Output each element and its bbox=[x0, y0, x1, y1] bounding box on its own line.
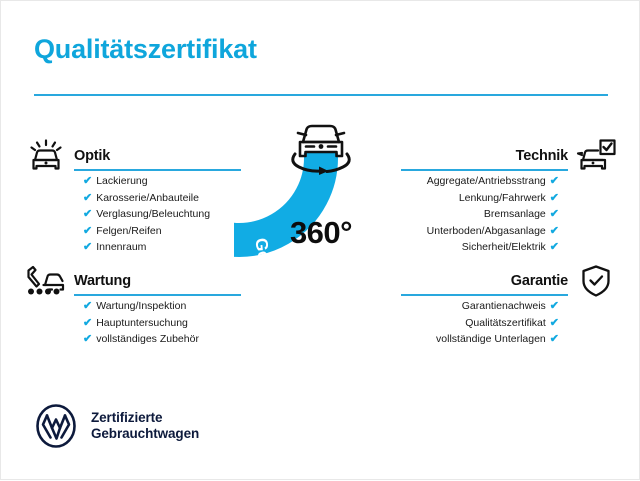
check-icon: ✔ bbox=[550, 315, 559, 332]
list-item-label: vollständiges Zubehör bbox=[96, 333, 199, 345]
check-icon: ✔ bbox=[550, 298, 559, 315]
check-icon: ✔ bbox=[550, 206, 559, 223]
check-icon: ✔ bbox=[83, 206, 92, 223]
section-title-optik: Optik bbox=[74, 148, 110, 164]
list-item-label: Felgen/Reifen bbox=[96, 225, 161, 237]
list-item-label: Innenraum bbox=[96, 241, 146, 253]
certificate-page: Qualitätszertifikat Op bbox=[1, 1, 640, 481]
check-icon: ✔ bbox=[83, 223, 92, 240]
list-item-label: Karosserie/Anbauteile bbox=[96, 192, 199, 204]
list-item: vollständige Unterlagen✔ bbox=[436, 331, 559, 348]
check-icon: ✔ bbox=[550, 173, 559, 190]
list-item-label: Qualitätszertifikat bbox=[465, 317, 546, 329]
check-icon: ✔ bbox=[550, 223, 559, 240]
list-item-label: vollständige Unterlagen bbox=[436, 333, 546, 345]
section-title-wartung: Wartung bbox=[74, 273, 131, 289]
list-item: ✔Felgen/Reifen bbox=[83, 223, 210, 240]
section-technik: Technik Aggregate/Antriebsstrang✔ Lenkun… bbox=[401, 141, 616, 171]
section-optik: Optik ✔Lackierung ✔Karosserie/Anbauteile… bbox=[26, 141, 241, 171]
volkswagen-logo bbox=[34, 404, 78, 448]
check-icon: ✔ bbox=[550, 190, 559, 207]
check-icon: ✔ bbox=[83, 190, 92, 207]
list-item-label: Wartung/Inspektion bbox=[96, 300, 186, 312]
checklist-optik: ✔Lackierung ✔Karosserie/Anbauteile ✔Verg… bbox=[83, 173, 210, 256]
badge-center-label: 360° bbox=[234, 215, 408, 251]
list-item: Lenkung/Fahrwerk✔ bbox=[427, 190, 559, 207]
footer-text: Zertifizierte Gebrauchtwagen bbox=[91, 410, 199, 442]
check-icon: ✔ bbox=[83, 315, 92, 332]
car-rotate-icon bbox=[279, 116, 363, 176]
list-item: ✔Verglasung/Beleuchtung bbox=[83, 206, 210, 223]
check-icon: ✔ bbox=[83, 298, 92, 315]
checklist-wartung: ✔Wartung/Inspektion ✔Hauptuntersuchung ✔… bbox=[83, 298, 199, 348]
list-item: Aggregate/Antriebsstrang✔ bbox=[427, 173, 559, 190]
list-item: ✔vollständiges Zubehör bbox=[83, 331, 199, 348]
list-item: Sicherheit/Elektrik✔ bbox=[427, 239, 559, 256]
list-item: Bremsanlage✔ bbox=[427, 206, 559, 223]
list-item: Garantienachweis✔ bbox=[436, 298, 559, 315]
checklist-garantie: Garantienachweis✔ Qualitätszertifikat✔ v… bbox=[436, 298, 559, 348]
footer-branding: Zertifizierte Gebrauchtwagen bbox=[34, 404, 199, 448]
check-icon: ✔ bbox=[83, 173, 92, 190]
badge-360-check: Gebrauchtwagen-Check 360° bbox=[234, 153, 408, 327]
check-icon: ✔ bbox=[83, 239, 92, 256]
list-item-label: Aggregate/Antriebsstrang bbox=[427, 175, 546, 187]
list-item-label: Hauptuntersuchung bbox=[96, 317, 188, 329]
list-item: Qualitätszertifikat✔ bbox=[436, 315, 559, 332]
list-item-label: Lenkung/Fahrwerk bbox=[459, 192, 546, 204]
section-divider-technik bbox=[401, 169, 568, 171]
footer-line-2: Gebrauchtwagen bbox=[91, 426, 199, 442]
checklist-technik: Aggregate/Antriebsstrang✔ Lenkung/Fahrwe… bbox=[427, 173, 559, 256]
list-item: ✔Hauptuntersuchung bbox=[83, 315, 199, 332]
section-divider-optik bbox=[74, 169, 241, 171]
page-title: Qualitätszertifikat bbox=[34, 34, 257, 65]
list-item-label: Unterboden/Abgasanlage bbox=[427, 225, 546, 237]
section-divider-garantie bbox=[401, 294, 568, 296]
list-item-label: Verglasung/Beleuchtung bbox=[96, 208, 210, 220]
section-title-garantie: Garantie bbox=[511, 273, 568, 289]
check-icon: ✔ bbox=[550, 239, 559, 256]
list-item-label: Sicherheit/Elektrik bbox=[462, 241, 546, 253]
section-title-technik: Technik bbox=[516, 148, 568, 164]
list-item: ✔Karosserie/Anbauteile bbox=[83, 190, 210, 207]
section-garantie: Garantie Garantienachweis✔ Qualitätszert… bbox=[401, 266, 616, 296]
check-icon: ✔ bbox=[550, 331, 559, 348]
list-item-label: Lackierung bbox=[96, 175, 147, 187]
section-wartung: Wartung ✔Wartung/Inspektion ✔Hauptunters… bbox=[26, 266, 241, 296]
list-item: ✔Innenraum bbox=[83, 239, 210, 256]
list-item-label: Garantienachweis bbox=[462, 300, 546, 312]
check-icon: ✔ bbox=[83, 331, 92, 348]
list-item: ✔Wartung/Inspektion bbox=[83, 298, 199, 315]
list-item-label: Bremsanlage bbox=[484, 208, 546, 220]
list-item: ✔Lackierung bbox=[83, 173, 210, 190]
title-divider bbox=[34, 94, 608, 96]
section-divider-wartung bbox=[74, 294, 241, 296]
list-item: Unterboden/Abgasanlage✔ bbox=[427, 223, 559, 240]
footer-line-1: Zertifizierte bbox=[91, 410, 199, 426]
